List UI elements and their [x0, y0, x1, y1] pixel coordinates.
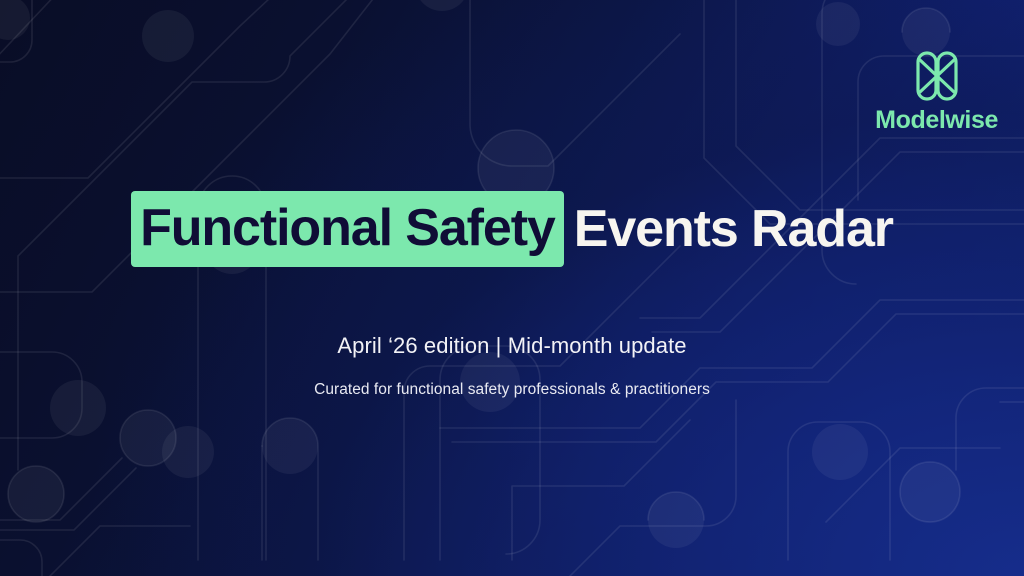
page-title: Functional SafetyEvents Radar — [131, 191, 893, 267]
edition-subtitle: April ‘26 edition | Mid-month update — [337, 333, 686, 359]
title-highlight: Functional Safety — [131, 191, 564, 267]
slide-canvas: Modelwise Functional SafetyEvents Radar … — [0, 0, 1024, 576]
hero-content: Functional SafetyEvents Radar April ‘26 … — [0, 0, 1024, 576]
title-rest: Events Radar — [564, 203, 893, 255]
audience-tagline: Curated for functional safety profession… — [314, 381, 710, 399]
